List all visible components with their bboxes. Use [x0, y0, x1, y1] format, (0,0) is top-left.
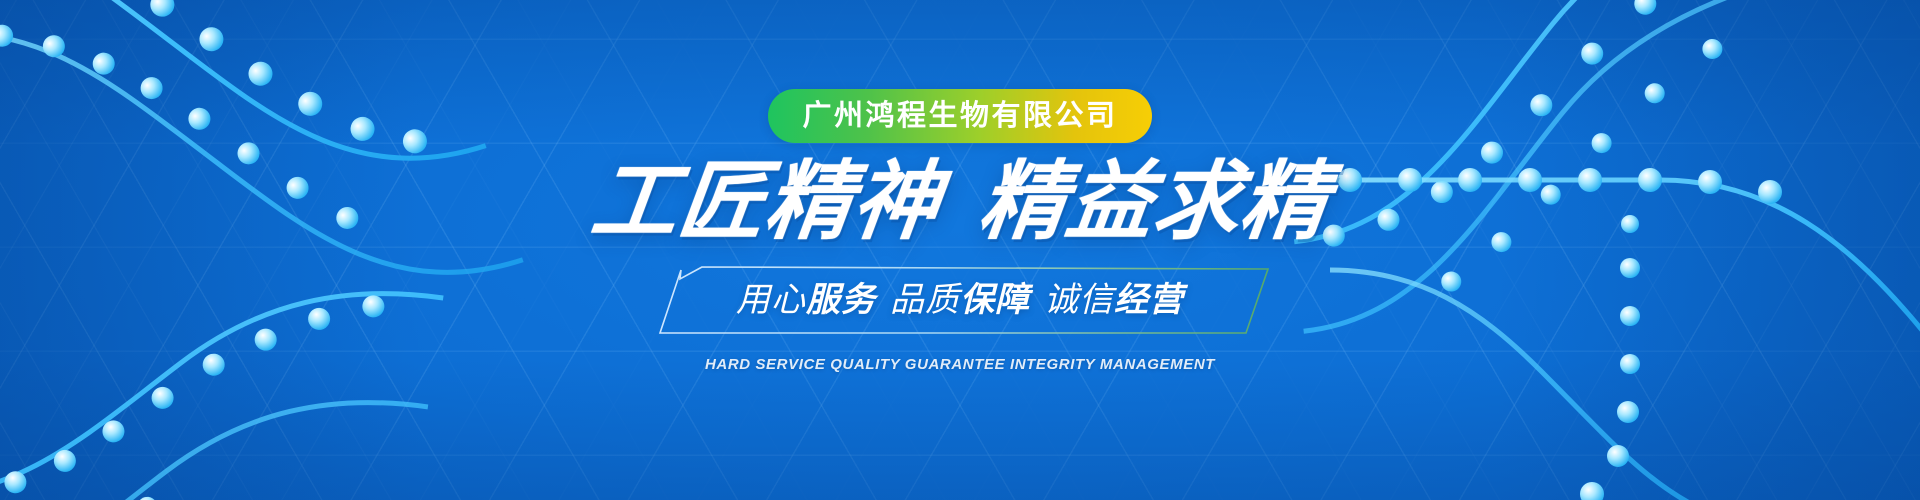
subtitle-block: 用心服务品质保障诚信经营	[650, 265, 1270, 335]
subtitle-text: 用心服务品质保障诚信经营	[736, 283, 1184, 317]
banner-content: 广州鸿程生物有限公司 工匠精神 精益求精 用心服务品质保障	[0, 0, 1920, 500]
subtitle-seg3-light: 诚信	[1044, 281, 1114, 319]
subtitle-seg2-light: 品质	[890, 281, 960, 319]
promo-banner: 广州鸿程生物有限公司 工匠精神 精益求精 用心服务品质保障	[0, 0, 1920, 500]
headline-part-2: 精益求精	[974, 157, 1333, 247]
english-tagline: HARD SERVICE QUALITY GUARANTEE INTEGRITY…	[705, 356, 1215, 373]
subtitle-seg1-light: 用心	[736, 281, 806, 319]
subtitle-seg3-bold: 经营	[1114, 281, 1184, 319]
company-name-text: 广州鸿程生物有限公司	[802, 102, 1117, 131]
subtitle-seg2-bold: 保障	[960, 281, 1030, 319]
subtitle-seg1-bold: 服务	[806, 281, 876, 319]
headline-part-1: 工匠精神	[586, 157, 945, 247]
company-name-badge: 广州鸿程生物有限公司	[768, 89, 1151, 143]
headline: 工匠精神 精益求精	[586, 157, 1333, 247]
